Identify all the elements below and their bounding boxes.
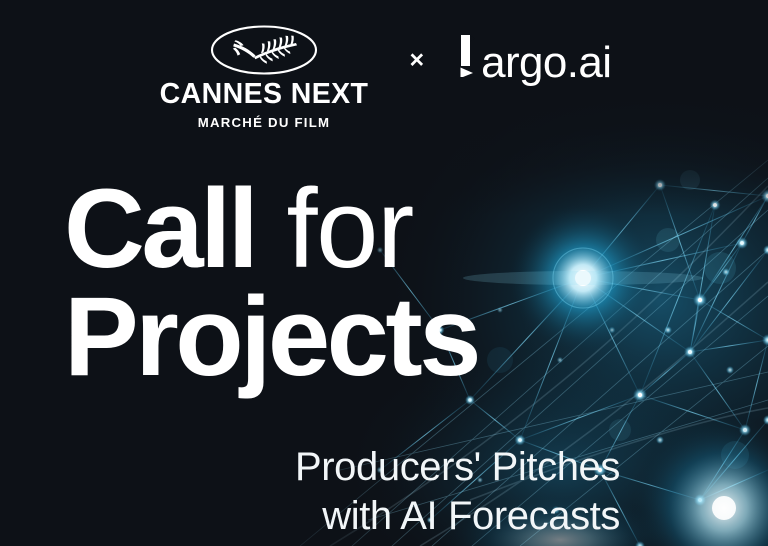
subtitle-line-1: Producers' Pitches [295, 443, 620, 492]
cannes-next-wordmark: CANNES NEXT [160, 80, 369, 110]
headline-line-2: Projects [64, 284, 478, 390]
largo-play-l-icon [458, 35, 480, 77]
headline-for: for [287, 166, 413, 291]
logo-header: CANNES NEXT MARCHÉ DU FILM × argo.ai [0, 24, 768, 130]
headline-call: Call [64, 166, 255, 291]
cannes-next-logo[interactable]: CANNES NEXT MARCHÉ DU FILM [157, 24, 372, 130]
headline-line-1: Call for [64, 176, 478, 282]
cannes-palm-leaf-icon [210, 24, 318, 76]
headline-projects: Projects [64, 274, 478, 399]
marche-du-film-tagline: MARCHÉ DU FILM [198, 116, 331, 131]
largo-ai-logo[interactable]: argo.ai [458, 35, 611, 85]
subtitle-line-2: with AI Forecasts [295, 492, 620, 541]
subtitle: Producers' Pitches with AI Forecasts [295, 443, 620, 541]
largo-ai-wordmark-group: argo.ai [458, 35, 611, 85]
largo-ai-wordmark-text: argo.ai [481, 41, 611, 85]
page-title: Call for Projects [64, 176, 478, 391]
collaboration-cross-icon: × [410, 48, 425, 73]
poster-canvas: CANNES NEXT MARCHÉ DU FILM × argo.ai Cal… [0, 0, 768, 546]
